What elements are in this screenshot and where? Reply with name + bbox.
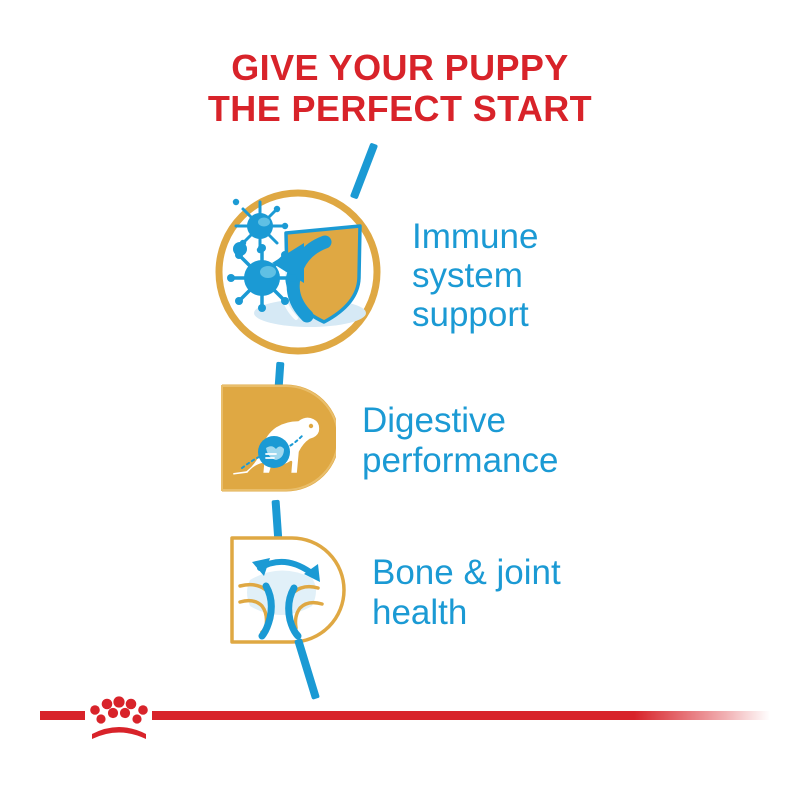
page-title-line-1: GIVE YOUR PUPPY [0,48,800,89]
benefit-label-digestive: Digestive performance [362,401,558,479]
immune-shield-icon [212,186,384,363]
royal-canin-crown-logo [84,694,154,742]
benefit-item-digestive: Digestive performance [212,376,558,505]
digestive-dog-icon [212,376,336,505]
page-title-line-2: THE PERFECT START [0,89,800,130]
infographic-page: GIVE YOUR PUPPY THE PERFECT START [0,0,800,800]
brand-rule-right [152,711,770,720]
benefit-label-immune: Immune system support [412,217,538,335]
bone-joint-icon [222,528,346,657]
brand-rule-left [40,711,85,720]
benefit-label-bone-joint: Bone & joint health [372,553,561,631]
benefit-item-immune: Immune system support [212,186,538,363]
page-title: GIVE YOUR PUPPY THE PERFECT START [0,48,800,129]
benefit-item-bone-joint: Bone & joint health [222,528,561,657]
